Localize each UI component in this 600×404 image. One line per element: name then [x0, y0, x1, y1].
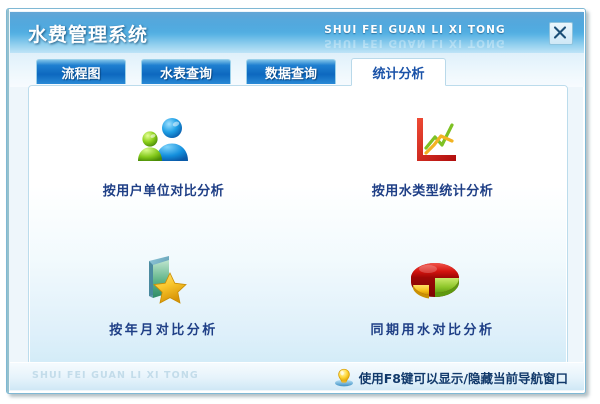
tab-label: 数据查询	[265, 63, 317, 82]
pie-chart-icon	[404, 251, 462, 307]
tab-strip: 流程图 水表查询 数据查询 统计分析	[10, 53, 584, 87]
content-panel: 按用户单位对比分析	[28, 85, 568, 365]
grid-item-label: 按年月对比分析	[109, 319, 218, 338]
status-bar: SHUI FEI GUAN LI XI TONG	[10, 362, 584, 390]
line-chart-icon	[404, 112, 462, 168]
grid-item-same-period-comparison[interactable]: 同期用水对比分析	[298, 225, 567, 364]
analysis-grid: 按用户单位对比分析	[29, 86, 567, 364]
close-button[interactable]	[549, 22, 573, 45]
grid-item-water-type-statistics[interactable]: 按用水类型统计分析	[298, 86, 567, 225]
tab-statistics[interactable]: 统计分析	[351, 58, 446, 86]
title-bar-subtitle: SHUI FEI GUAN LI XI TONG SHUI FEI GUAN L…	[300, 24, 530, 52]
navigation-hint: 使用F8键可以显示/隐藏当前导航窗口	[333, 367, 568, 387]
tab-label: 流程图	[61, 63, 100, 82]
grid-item-label: 同期用水对比分析	[370, 319, 494, 338]
grid-item-label: 按用水类型统计分析	[372, 180, 494, 199]
application-window: 水费管理系统 SHUI FEI GUAN LI XI TONG SHUI FEI…	[6, 8, 586, 394]
users-icon	[135, 112, 193, 168]
grid-item-year-month-comparison[interactable]: 按年月对比分析	[29, 225, 298, 364]
title-bar-subtitle-text: SHUI FEI GUAN LI XI TONG	[300, 24, 530, 36]
navigation-hint-text: 使用F8键可以显示/隐藏当前导航窗口	[359, 368, 568, 387]
status-bar-watermark: SHUI FEI GUAN LI XI TONG	[32, 370, 199, 381]
grid-item-user-unit-comparison[interactable]: 按用户单位对比分析	[29, 86, 298, 225]
folder-star-icon	[135, 251, 193, 307]
grid-item-label: 按用户单位对比分析	[103, 180, 225, 199]
tab-label: 水表查询	[160, 63, 212, 82]
lightbulb-icon	[333, 367, 355, 387]
tab-label: 统计分析	[372, 63, 424, 82]
tab-meter-query[interactable]: 水表查询	[141, 59, 231, 84]
title-bar-subtitle-reflection: SHUI FEI GUAN LI XI TONG	[300, 37, 530, 49]
title-bar: 水费管理系统 SHUI FEI GUAN LI XI TONG SHUI FEI…	[10, 12, 584, 53]
page-title: 水费管理系统	[28, 20, 148, 47]
tab-data-query[interactable]: 数据查询	[246, 59, 336, 84]
tab-flowchart[interactable]: 流程图	[36, 59, 126, 84]
